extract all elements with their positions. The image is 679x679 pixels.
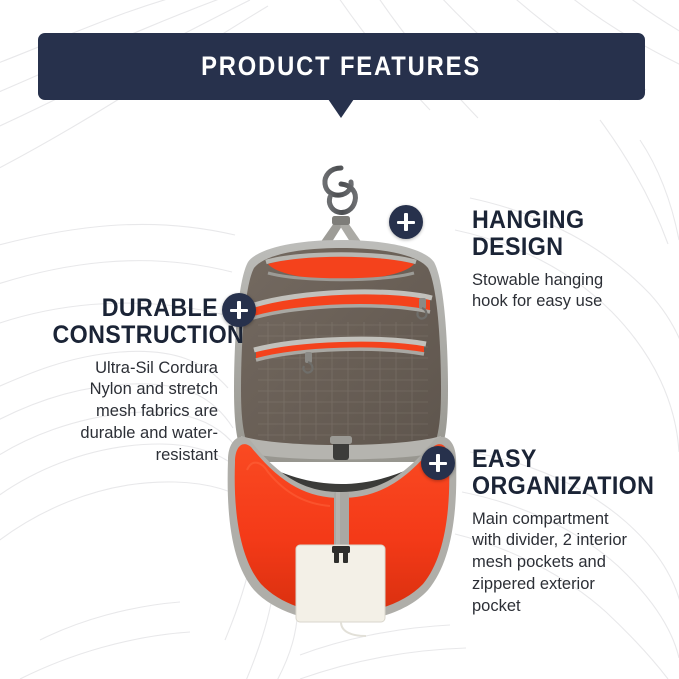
hang-tag xyxy=(296,545,385,636)
plus-icon-easy[interactable] xyxy=(421,446,455,480)
infographic-canvas: PRODUCT FEATURES xyxy=(0,0,679,679)
header-banner: PRODUCT FEATURES xyxy=(38,33,645,100)
feature-body-easy-organization: Main compartment with divider, 2 interio… xyxy=(472,509,672,618)
feature-title-hanging-design: HANGING DESIGN xyxy=(472,207,658,261)
plus-icon-vertical-bar xyxy=(404,213,407,231)
feature-body-durable-construction: Ultra-Sil Cordura Nylon and stretch mesh… xyxy=(40,358,218,467)
feature-hanging-design: HANGING DESIGN Stowable hanging hook for… xyxy=(472,207,672,313)
feature-easy-organization: EASY ORGANIZATION Main compartment with … xyxy=(472,446,672,617)
feature-title-easy-organization: EASY ORGANIZATION xyxy=(472,446,658,500)
plus-icon-vertical-bar xyxy=(436,454,439,472)
plus-icon-durable[interactable] xyxy=(222,293,256,327)
feature-body-hanging-design: Stowable hanging hook for easy use xyxy=(472,270,672,314)
plus-icon-vertical-bar xyxy=(237,301,240,319)
feature-title-durable-construction: DURABLE CONSTRUCTION xyxy=(52,295,218,349)
plus-icon-hanging[interactable] xyxy=(389,205,423,239)
upper-mesh-pocket xyxy=(266,255,416,281)
banner-tail-triangle xyxy=(328,99,354,118)
page-title: PRODUCT FEATURES xyxy=(202,53,482,80)
hanging-hook xyxy=(325,168,356,224)
feature-durable-construction: DURABLE CONSTRUCTION Ultra-Sil Cordura N… xyxy=(40,295,218,466)
